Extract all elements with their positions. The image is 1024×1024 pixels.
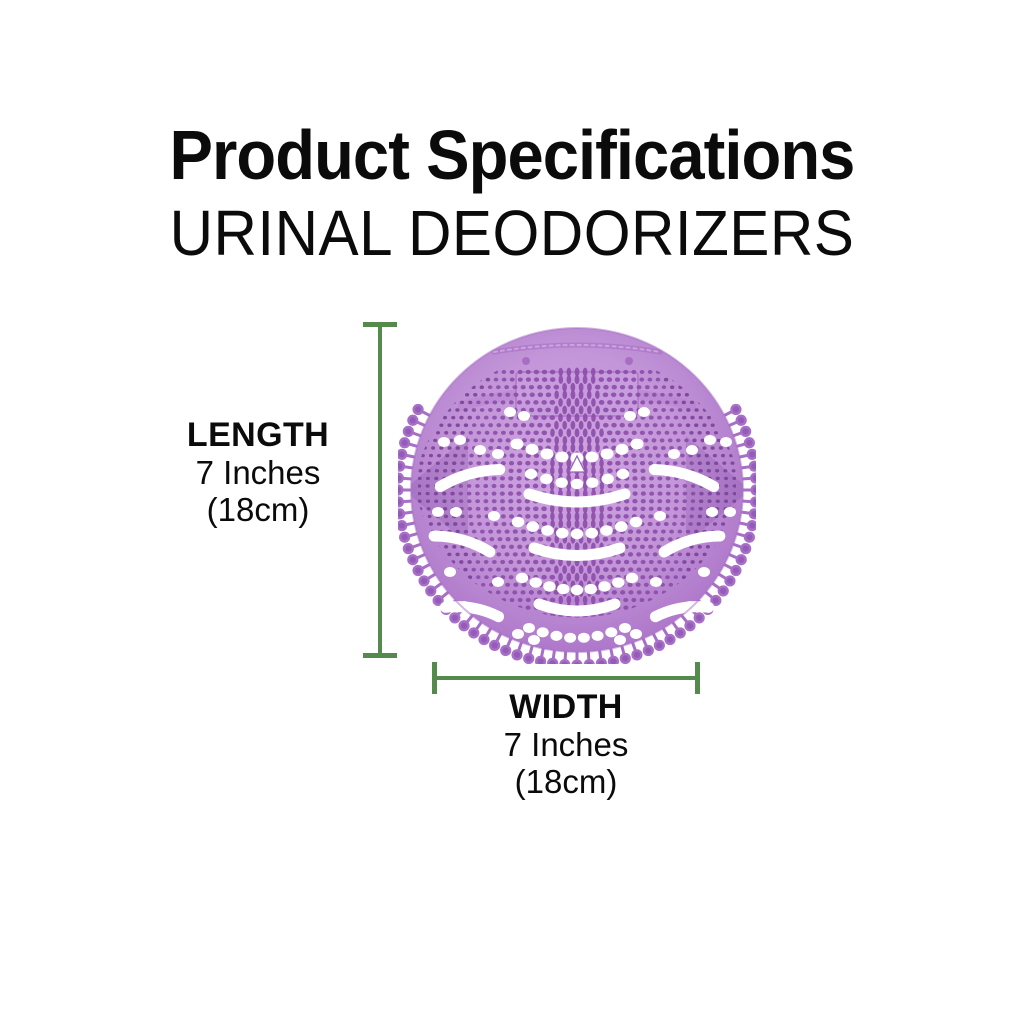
width-label-name: WIDTH — [426, 688, 706, 726]
vent-hole-left — [522, 357, 530, 365]
urinal-screen-graphic — [398, 316, 756, 664]
product-image-urinal-screen — [398, 316, 756, 664]
length-label-name: LENGTH — [118, 416, 398, 454]
heading-block: Product Specifications URINAL DEODORIZER… — [0, 118, 1024, 268]
vent-hole-right — [625, 357, 633, 365]
length-measure-cap-top — [363, 322, 397, 327]
specification-sheet: Product Specifications URINAL DEODORIZER… — [0, 0, 1024, 1024]
width-label-metric: (18cm) — [426, 763, 706, 800]
length-measure-cap-bottom — [363, 653, 397, 658]
length-label-metric: (18cm) — [118, 491, 398, 528]
page-subtitle: URINAL DEODORIZERS — [31, 198, 994, 268]
length-dimension-label: LENGTH 7 Inches (18cm) — [118, 416, 398, 528]
page-title: Product Specifications — [36, 118, 988, 192]
width-label-value: 7 Inches — [426, 726, 706, 763]
length-label-value: 7 Inches — [118, 454, 398, 491]
width-dimension-label: WIDTH 7 Inches (18cm) — [426, 688, 706, 800]
width-measure-line — [432, 676, 700, 680]
